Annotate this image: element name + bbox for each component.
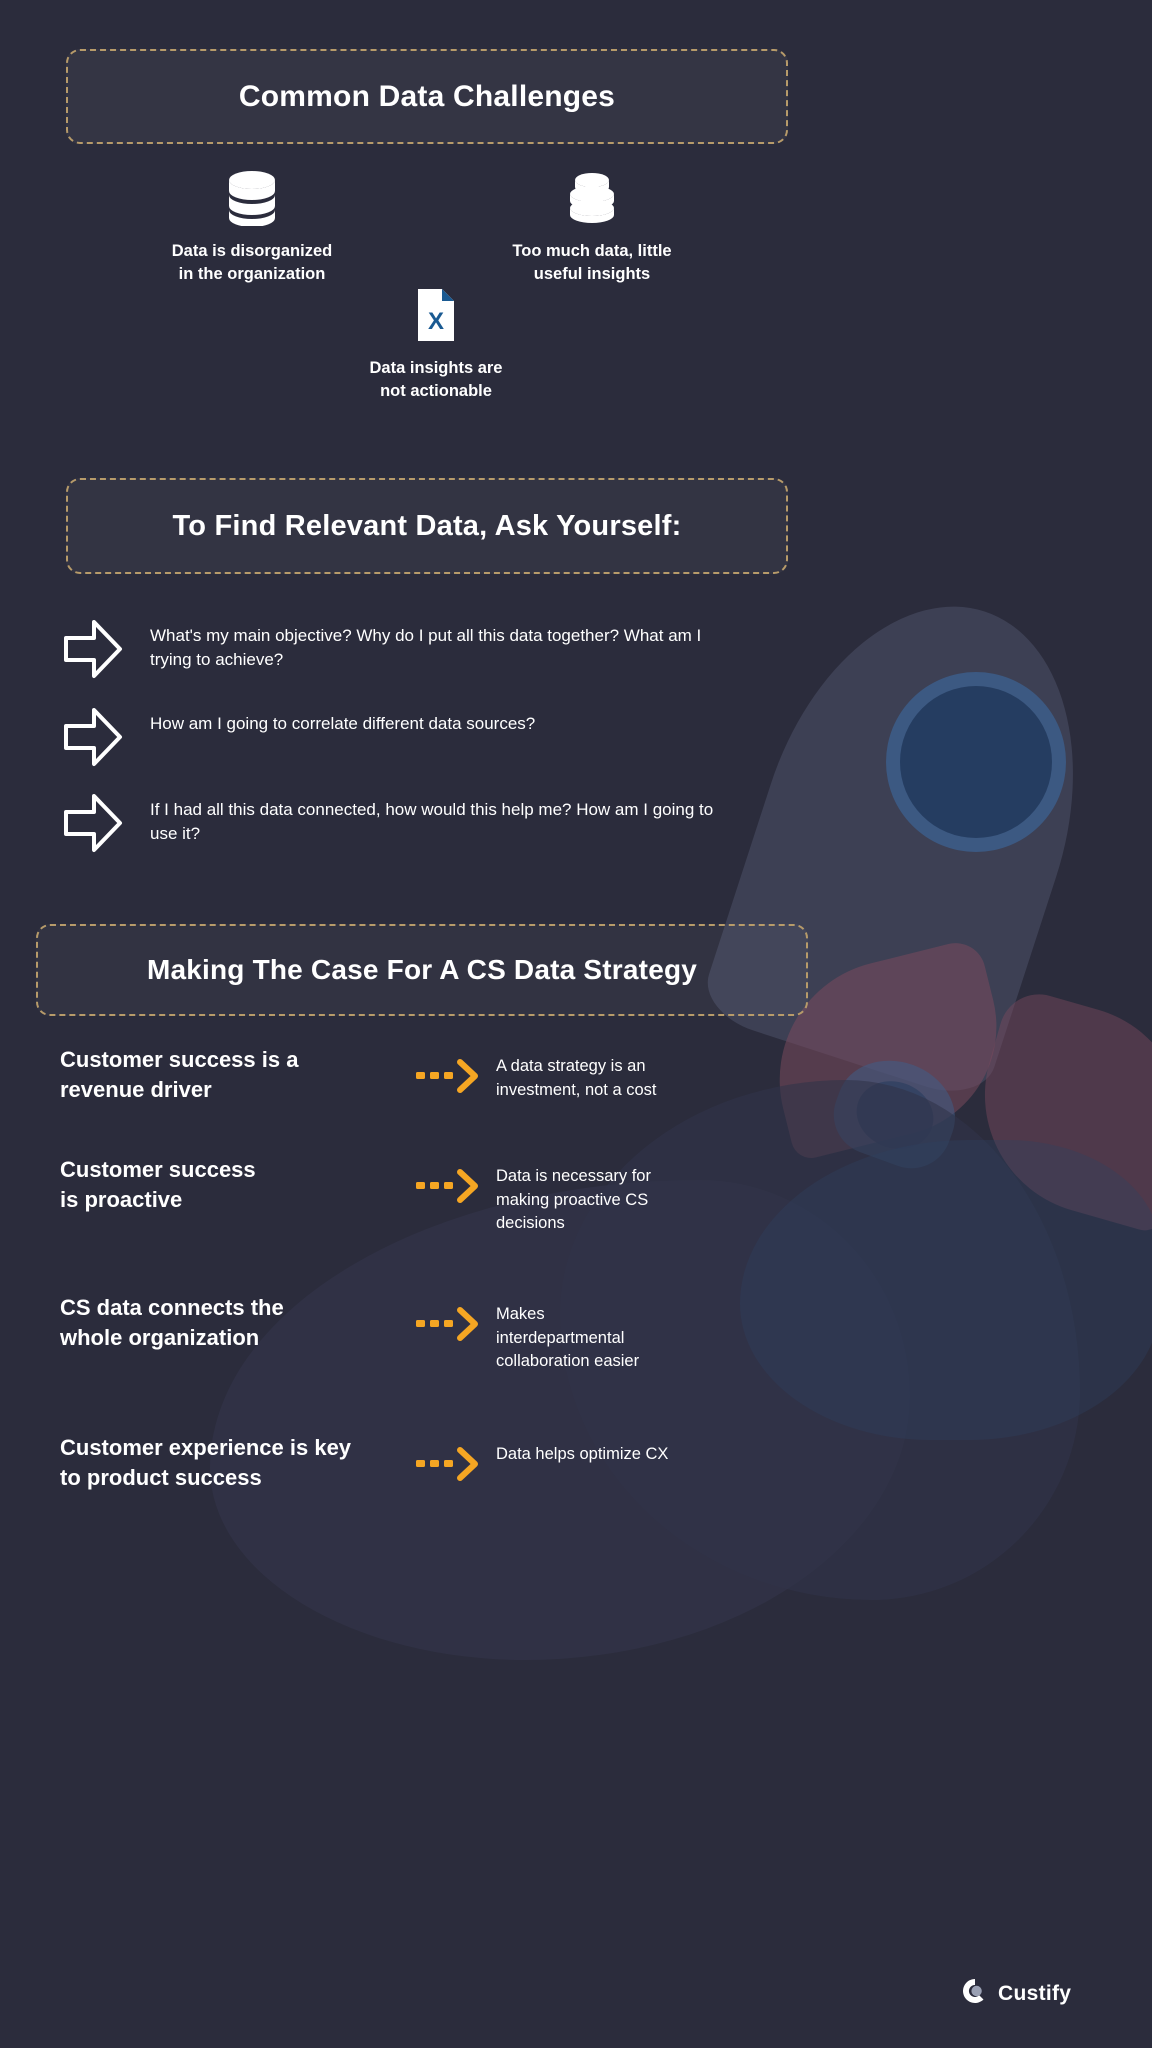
- arrow-right-outline-icon: [62, 700, 124, 775]
- case-claim-text: Customer success is a revenue driver: [0, 1045, 400, 1105]
- dashed-chevron-arrow-icon: [400, 1433, 496, 1481]
- case-reason-text: Data is necessary for making proactive C…: [496, 1155, 882, 1236]
- question-row: How am I going to correlate different da…: [62, 700, 822, 775]
- dashed-chevron-arrow-icon: [400, 1155, 496, 1203]
- case-row: CS data connects the whole organization …: [0, 1293, 882, 1374]
- brand-name: Custify: [998, 1982, 1071, 2006]
- case-reason-text: Data helps optimize CX: [496, 1433, 882, 1467]
- infographic-page: Common Data Challenges Data is disorgani…: [0, 0, 1152, 2048]
- case-claim-text: Customer experience is key to product su…: [0, 1433, 400, 1493]
- questions-title-banner: To Find Relevant Data, Ask Yourself:: [66, 478, 788, 574]
- database-icon: [150, 170, 354, 226]
- case-reason-text: A data strategy is an investment, not a …: [496, 1045, 882, 1102]
- question-row: If I had all this data connected, how wo…: [62, 786, 822, 861]
- coin-stack-icon: [490, 170, 694, 226]
- arrow-right-outline-icon: [62, 786, 124, 861]
- background-rocket-illustration: [0, 0, 1152, 2048]
- svg-text:X: X: [428, 308, 444, 335]
- challenge-label: Too much data, little useful insights: [490, 240, 694, 287]
- question-text: If I had all this data connected, how wo…: [124, 786, 724, 846]
- questions-title-text: To Find Relevant Data, Ask Yourself:: [173, 510, 682, 543]
- excel-file-icon: X: [334, 287, 538, 343]
- rocket-fin-right: [957, 985, 1152, 1235]
- challenge-item: Data is disorganized in the organization: [150, 170, 354, 287]
- challenge-label: Data is disorganized in the organization: [150, 240, 354, 287]
- case-row: Customer success is a revenue driver A d…: [0, 1045, 882, 1105]
- challenges-title-banner: Common Data Challenges: [66, 49, 788, 144]
- question-text: How am I going to correlate different da…: [124, 700, 535, 736]
- custify-logo-icon: [962, 1978, 988, 2009]
- dashed-chevron-arrow-icon: [400, 1293, 496, 1341]
- arrow-right-outline-icon: [62, 612, 124, 687]
- rocket-window-inner-circle: [900, 686, 1052, 838]
- rocket-window-outer-ring: [886, 672, 1066, 852]
- brand-logo[interactable]: Custify: [962, 1978, 1071, 2009]
- dashed-chevron-arrow-icon: [400, 1045, 496, 1093]
- challenge-item: Too much data, little useful insights: [490, 170, 694, 287]
- challenge-item: X Data insights are not actionable: [334, 287, 538, 404]
- challenge-label: Data insights are not actionable: [334, 357, 538, 404]
- case-row: Customer experience is key to product su…: [0, 1433, 882, 1493]
- question-text: What's my main objective? Why do I put a…: [124, 612, 724, 672]
- case-title-text: Making The Case For A CS Data Strategy: [147, 954, 697, 986]
- question-row: What's my main objective? Why do I put a…: [62, 612, 822, 687]
- background-swoosh-a: [210, 1180, 910, 1660]
- case-claim-text: Customer success is proactive: [0, 1155, 400, 1215]
- case-row: Customer success is proactive Data is ne…: [0, 1155, 882, 1236]
- case-claim-text: CS data connects the whole organization: [0, 1293, 400, 1353]
- challenges-title-text: Common Data Challenges: [239, 80, 615, 114]
- case-reason-text: Makes interdepartmental collaboration ea…: [496, 1293, 882, 1374]
- case-title-banner: Making The Case For A CS Data Strategy: [36, 924, 808, 1016]
